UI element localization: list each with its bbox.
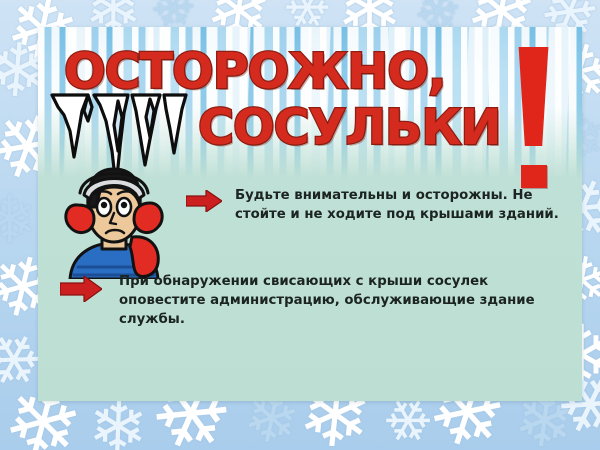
- message-text-1: Будьте внимательны и осторожны. Не стойт…: [235, 186, 571, 224]
- exclamation-mark-icon: [512, 47, 556, 195]
- exclamation-dot: [521, 165, 547, 188]
- message-row-1: Будьте внимательны и осторожны. Не стойт…: [186, 186, 571, 224]
- right-arrow-icon: [60, 276, 102, 307]
- message-row-2: При обнаружении свисающих с крыши сосуле…: [60, 272, 565, 329]
- message-text-2: При обнаружении свисающих с крыши сосуле…: [119, 272, 565, 329]
- worried-girl-illustration: [44, 149, 184, 279]
- right-arrow-icon: [186, 190, 222, 217]
- safety-poster: ОСТОРОЖНО, СОСУЛЬКИ: [38, 27, 582, 401]
- screenshot-root: ❄❄❄❄❄❄❄❄❄❄❄❄❄❄❄❄❄❄❄❄❄❄❄❄❄❄❄❄ ОСТОРОЖНО, …: [0, 0, 600, 450]
- exclamation-bar: [518, 47, 549, 146]
